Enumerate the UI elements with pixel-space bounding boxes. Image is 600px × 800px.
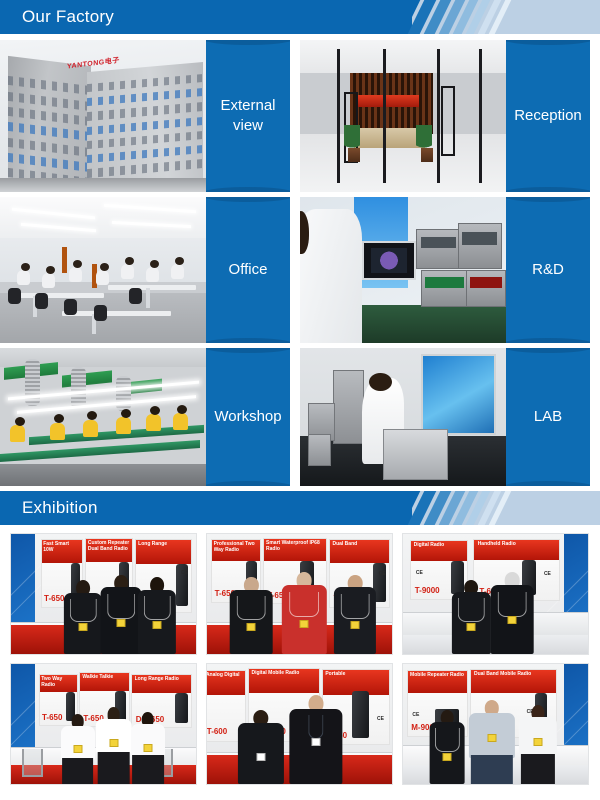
poster-headline: Dual Band (332, 541, 386, 547)
factory-photo-external-view: YANTONG电子 (0, 40, 208, 192)
poster-headline: Analog Digital (206, 672, 243, 678)
factory-label-panel: Reception (506, 40, 590, 192)
factory-label-text: LAB (530, 407, 566, 427)
exhibition-person (490, 572, 534, 654)
factory-cell-external-view[interactable]: YANTONG电子 External view (0, 40, 290, 192)
exhibition-photo[interactable]: Professional Two Way Radio T-650 Smart W… (206, 533, 393, 655)
factory-photo-lab (300, 348, 508, 486)
poster-headline: Walkie Talkie (82, 674, 126, 680)
poster-headline: Fast Smart 10W (43, 541, 80, 554)
factory-cell-rd[interactable]: R&D (300, 197, 590, 343)
poster-headline: Mobile Repeater Radio (410, 672, 464, 678)
header-stripes-decoration (390, 0, 600, 34)
factory-label-text: Workshop (210, 407, 285, 427)
poster-headline: Smart Waterproof IP68 Radio (266, 540, 324, 553)
factory-label-panel: Workshop (206, 348, 290, 486)
exhibition-person (94, 707, 133, 784)
factory-photo-office (0, 197, 208, 343)
exhibition-person (137, 577, 178, 654)
exhibition-person (429, 710, 466, 784)
exhibition-photo[interactable]: Two Way Radio T-650 Walkie Talkie T-650 … (10, 663, 197, 785)
exhibition-person (59, 714, 96, 784)
exhibition-person (229, 577, 273, 654)
factory-label-panel: LAB (506, 348, 590, 486)
poster-headline: Professional Two Way Radio (214, 541, 258, 554)
exhibition-photo[interactable]: Analog Digital T-600 Digital Mobile Radi… (206, 663, 393, 785)
exhibition-person (281, 572, 327, 654)
exhibition-person (518, 705, 559, 784)
exhibition-person (237, 710, 285, 784)
poster-headline: Custom Repeater Dual Band Radio (88, 540, 131, 553)
poster-headline: Handheld Radio (478, 541, 556, 547)
exhibition-photo-grid: Fast Smart 10W T-650 Custom Repeater Dua… (0, 525, 600, 799)
poster-headline: Digital Radio (414, 542, 465, 548)
exhibition-person (129, 712, 166, 784)
exhibition-row: Two Way Radio T-650 Walkie Talkie T-650 … (10, 663, 590, 785)
poster-headline: Digital Mobile Radio (251, 670, 316, 676)
exhibition-photo[interactable]: Mobile Repeater Radio M-9000 CE Dual Ban… (402, 663, 589, 785)
section-title: Exhibition (22, 491, 98, 525)
factory-label-panel: R&D (506, 197, 590, 343)
section-title: Our Factory (22, 0, 114, 34)
section-header-factory: Our Factory (0, 0, 600, 34)
factory-cell-reception[interactable]: Reception (300, 40, 590, 192)
factory-label-text: Reception (510, 106, 586, 126)
factory-label-panel: Office (206, 197, 290, 343)
factory-cell-office[interactable]: Office (0, 197, 290, 343)
poster-model: T-600 (207, 727, 227, 736)
exhibition-person (451, 580, 492, 654)
exhibition-person (333, 575, 377, 654)
section-header-exhibition: Exhibition (0, 491, 600, 525)
poster-headline: Portable (325, 671, 386, 677)
poster-model: T-650 (44, 594, 64, 603)
factory-row: Office (0, 197, 600, 343)
poster-headline: Dual Band Mobile Radio (474, 671, 552, 677)
factory-photo-rd (300, 197, 508, 343)
factory-photo-grid: YANTONG电子 External view (0, 34, 600, 486)
exhibition-person (288, 695, 344, 784)
factory-cell-workshop[interactable]: Workshop (0, 348, 290, 486)
poster-headline: Long Range Radio (135, 676, 189, 682)
factory-label-text: Office (225, 260, 272, 280)
factory-label-text: R&D (528, 260, 568, 280)
exhibition-person (468, 700, 516, 784)
factory-label-text: External view (206, 96, 290, 137)
factory-row: YANTONG电子 External view (0, 40, 600, 192)
exhibition-row: Fast Smart 10W T-650 Custom Repeater Dua… (10, 533, 590, 655)
exhibition-photo[interactable]: Fast Smart 10W T-650 Custom Repeater Dua… (10, 533, 197, 655)
factory-photo-reception (300, 40, 508, 192)
poster-headline: Two Way Radio (41, 676, 75, 689)
header-stripes-decoration (390, 491, 600, 525)
factory-label-panel: External view (206, 40, 290, 192)
factory-row: Workshop LAB (0, 348, 600, 486)
exhibition-photo[interactable]: Digital Radio T-9000 CE Handheld Radio T… (402, 533, 589, 655)
poster-model: T-9000 (415, 586, 440, 595)
factory-photo-workshop (0, 348, 208, 486)
exhibition-person (63, 580, 104, 654)
poster-headline: Long Range (138, 541, 189, 547)
factory-cell-lab[interactable]: LAB (300, 348, 590, 486)
